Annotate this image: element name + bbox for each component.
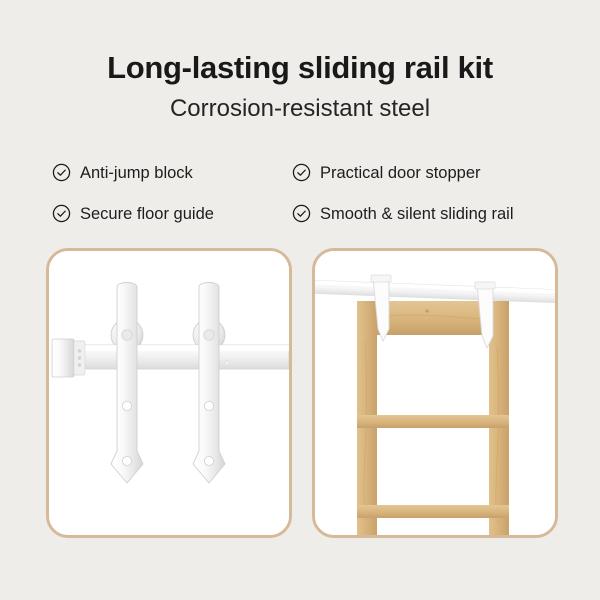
- rail-track: [57, 345, 289, 369]
- feature-label: Anti-jump block: [80, 163, 193, 183]
- installed-door-photo-panel: [312, 248, 558, 538]
- check-circle-icon: [52, 204, 71, 223]
- check-circle-icon: [52, 163, 71, 182]
- feature-item-smooth-silent-sliding-rail: Smooth & silent sliding rail: [292, 193, 562, 234]
- feature-item-secure-floor-guide: Secure floor guide: [52, 193, 292, 234]
- door-middle-rail: [357, 415, 509, 428]
- check-circle-icon: [292, 163, 311, 182]
- hardware-photo-panel: [46, 248, 292, 538]
- feature-item-practical-door-stopper: Practical door stopper: [292, 152, 562, 193]
- installed-door-illustration: [315, 251, 555, 535]
- page-subtitle: Corrosion-resistant steel: [0, 92, 600, 126]
- feature-card: Long-lasting sliding rail kit Corrosion-…: [0, 0, 600, 600]
- feature-label: Smooth & silent sliding rail: [320, 204, 514, 224]
- feature-item-anti-jump-block: Anti-jump block: [52, 152, 292, 193]
- feature-list: Anti-jump block Practical door stopper S…: [52, 152, 562, 234]
- feature-label: Secure floor guide: [80, 204, 214, 224]
- feature-label: Practical door stopper: [320, 163, 481, 183]
- header: Long-lasting sliding rail kit Corrosion-…: [0, 48, 600, 126]
- page-title: Long-lasting sliding rail kit: [0, 48, 600, 88]
- check-circle-icon: [292, 204, 311, 223]
- hardware-illustration: [49, 251, 289, 535]
- rail-end-stop: [52, 339, 85, 377]
- door-bottom-rail: [357, 505, 509, 518]
